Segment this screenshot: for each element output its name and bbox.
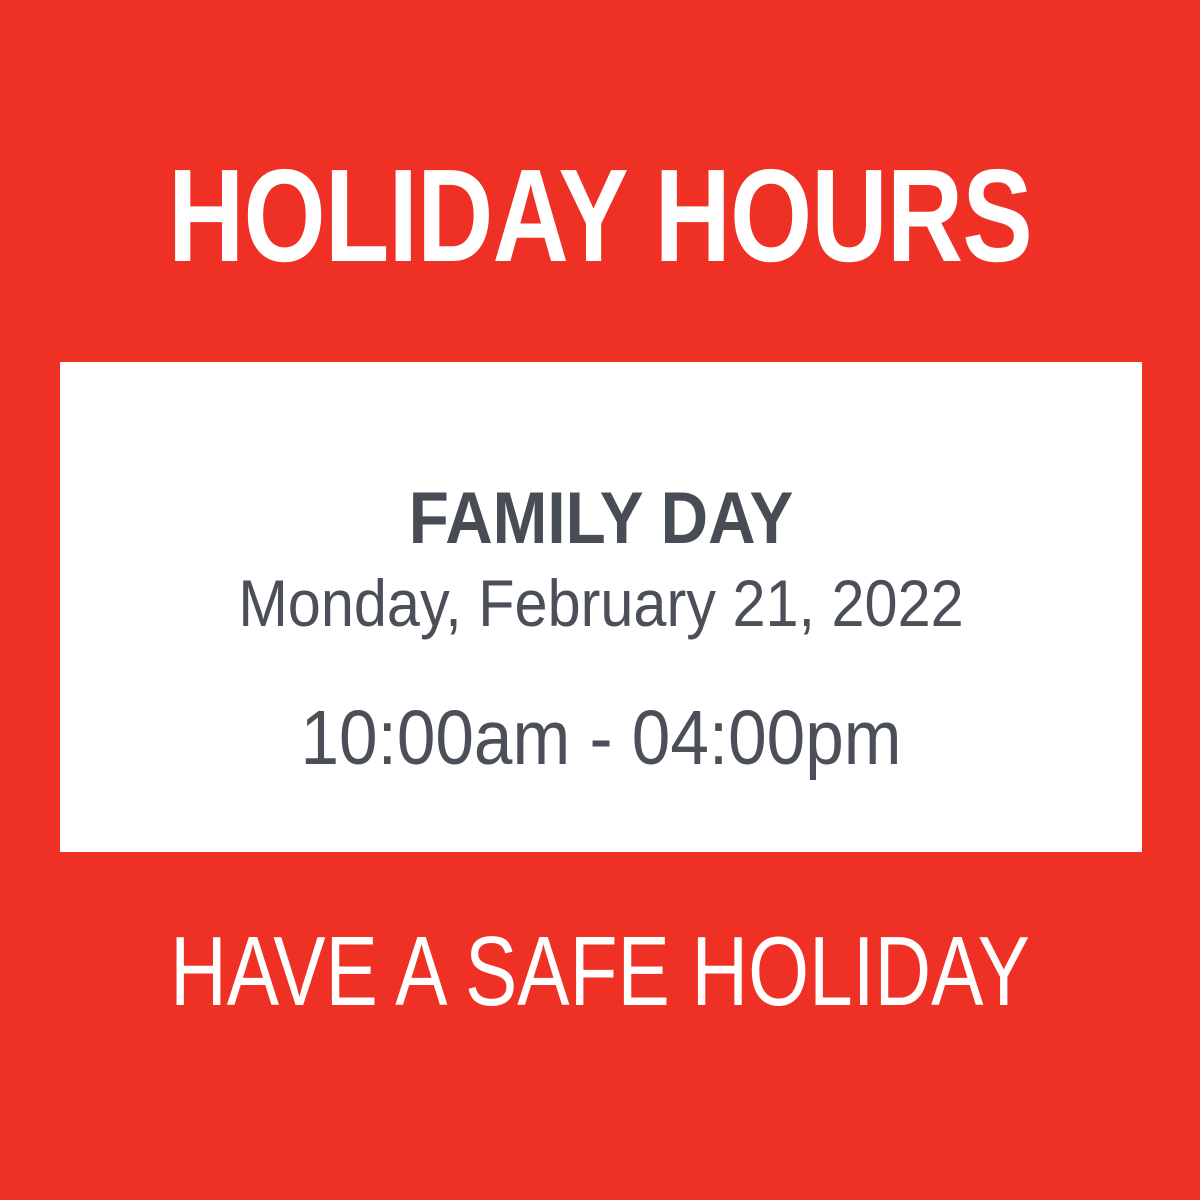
footer-message: HAVE A SAFE HOLIDAY xyxy=(120,922,1080,1020)
holiday-name: FAMILY DAY xyxy=(114,482,1088,555)
page-title: HOLIDAY HOURS xyxy=(120,150,1080,282)
holiday-hours: 10:00am - 04:00pm xyxy=(114,700,1088,777)
holiday-info-card: FAMILY DAY Monday, February 21, 2022 10:… xyxy=(60,362,1142,852)
holiday-date: Monday, February 21, 2022 xyxy=(114,570,1088,636)
holiday-info-card-content: FAMILY DAY Monday, February 21, 2022 10:… xyxy=(60,362,1142,852)
holiday-hours-poster: HOLIDAY HOURS FAMILY DAY Monday, Februar… xyxy=(0,0,1200,1200)
